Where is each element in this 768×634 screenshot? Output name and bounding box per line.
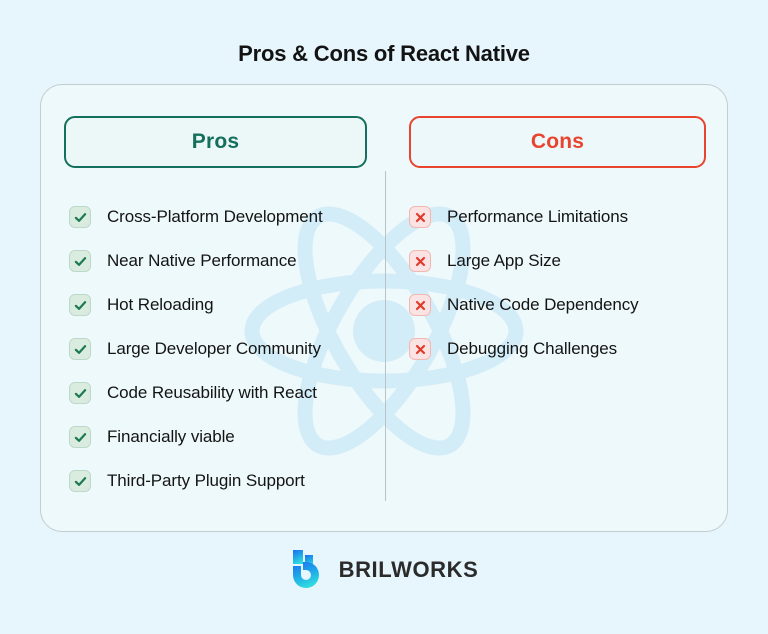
cross-icon xyxy=(409,250,431,272)
list-item: Third-Party Plugin Support xyxy=(64,470,367,492)
list-item: Performance Limitations xyxy=(409,206,706,228)
pros-heading-label: Pros xyxy=(192,130,240,154)
list-item: Cross-Platform Development xyxy=(64,206,367,228)
check-icon xyxy=(69,426,91,448)
cons-heading: Cons xyxy=(409,116,706,168)
brilworks-b-logo-icon xyxy=(290,549,326,591)
list-item: Code Reusability with React xyxy=(64,382,367,404)
list-item: Native Code Dependency xyxy=(409,294,706,316)
list-item: Financially viable xyxy=(64,426,367,448)
cons-item-label: Debugging Challenges xyxy=(447,338,617,360)
list-item: Large App Size xyxy=(409,250,706,272)
brand-footer: BRILWORKS xyxy=(0,549,768,591)
check-icon xyxy=(69,294,91,316)
check-icon xyxy=(69,382,91,404)
brand-name: BRILWORKS xyxy=(339,557,479,583)
cross-icon xyxy=(409,294,431,316)
pros-item-label: Financially viable xyxy=(107,426,235,448)
check-icon xyxy=(69,206,91,228)
page-title: Pros & Cons of React Native xyxy=(0,41,768,67)
cons-heading-label: Cons xyxy=(531,130,584,154)
list-item: Large Developer Community xyxy=(64,338,367,360)
cons-column: Cons Performance Limitations Large App S… xyxy=(384,85,727,531)
pros-list: Cross-Platform Development Near Native P… xyxy=(64,206,367,492)
cons-item-label: Large App Size xyxy=(447,250,561,272)
check-icon xyxy=(69,338,91,360)
pros-item-label: Near Native Performance xyxy=(107,250,297,272)
pros-item-label: Cross-Platform Development xyxy=(107,206,323,228)
pros-column: Pros Cross-Platform Development Near Nat… xyxy=(41,85,384,531)
list-item: Hot Reloading xyxy=(64,294,367,316)
list-item: Near Native Performance xyxy=(64,250,367,272)
pros-item-label: Code Reusability with React xyxy=(107,382,317,404)
cons-list: Performance Limitations Large App Size N… xyxy=(409,206,706,360)
check-icon xyxy=(69,470,91,492)
pros-heading: Pros xyxy=(64,116,367,168)
pros-item-label: Large Developer Community xyxy=(107,338,321,360)
cons-item-label: Native Code Dependency xyxy=(447,294,639,316)
pros-item-label: Hot Reloading xyxy=(107,294,213,316)
pros-cons-card: Pros Cross-Platform Development Near Nat… xyxy=(40,84,728,532)
cross-icon xyxy=(409,338,431,360)
list-item: Debugging Challenges xyxy=(409,338,706,360)
check-icon xyxy=(69,250,91,272)
cross-icon xyxy=(409,206,431,228)
pros-item-label: Third-Party Plugin Support xyxy=(107,470,305,492)
cons-item-label: Performance Limitations xyxy=(447,206,628,228)
